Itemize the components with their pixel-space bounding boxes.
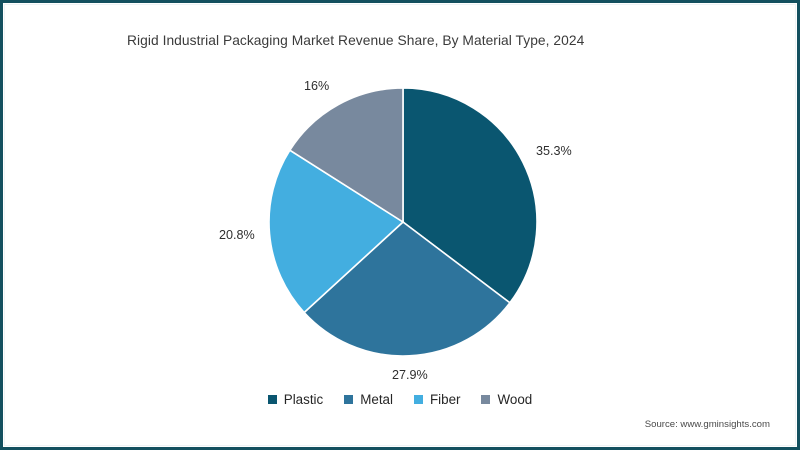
legend-item-label: Metal	[360, 392, 393, 407]
legend-item-wood[interactable]: Wood	[481, 392, 532, 407]
page-title: Rigid Industrial Packaging Market Revenu…	[127, 33, 584, 48]
pie-chart-svg	[268, 87, 538, 357]
slice-label-metal: 27.9%	[392, 368, 428, 382]
slice-label-plastic: 35.3%	[536, 144, 572, 158]
legend-item-fiber[interactable]: Fiber	[414, 392, 461, 407]
chart-legend: Plastic Metal Fiber Wood	[0, 392, 800, 407]
source-attribution: Source: www.gminsights.com	[645, 419, 770, 430]
pie-slice-group	[269, 88, 537, 356]
legend-swatch-icon	[268, 395, 277, 404]
pie-chart	[268, 87, 538, 357]
legend-swatch-icon	[414, 395, 423, 404]
slice-label-wood: 16%	[304, 79, 329, 93]
slice-label-fiber: 20.8%	[219, 228, 255, 242]
legend-item-metal[interactable]: Metal	[344, 392, 393, 407]
legend-swatch-icon	[481, 395, 490, 404]
legend-item-label: Plastic	[284, 392, 323, 407]
chart-canvas: Rigid Industrial Packaging Market Revenu…	[0, 0, 800, 450]
legend-swatch-icon	[344, 395, 353, 404]
legend-item-label: Fiber	[430, 392, 461, 407]
legend-item-label: Wood	[497, 392, 532, 407]
legend-item-plastic[interactable]: Plastic	[268, 392, 323, 407]
